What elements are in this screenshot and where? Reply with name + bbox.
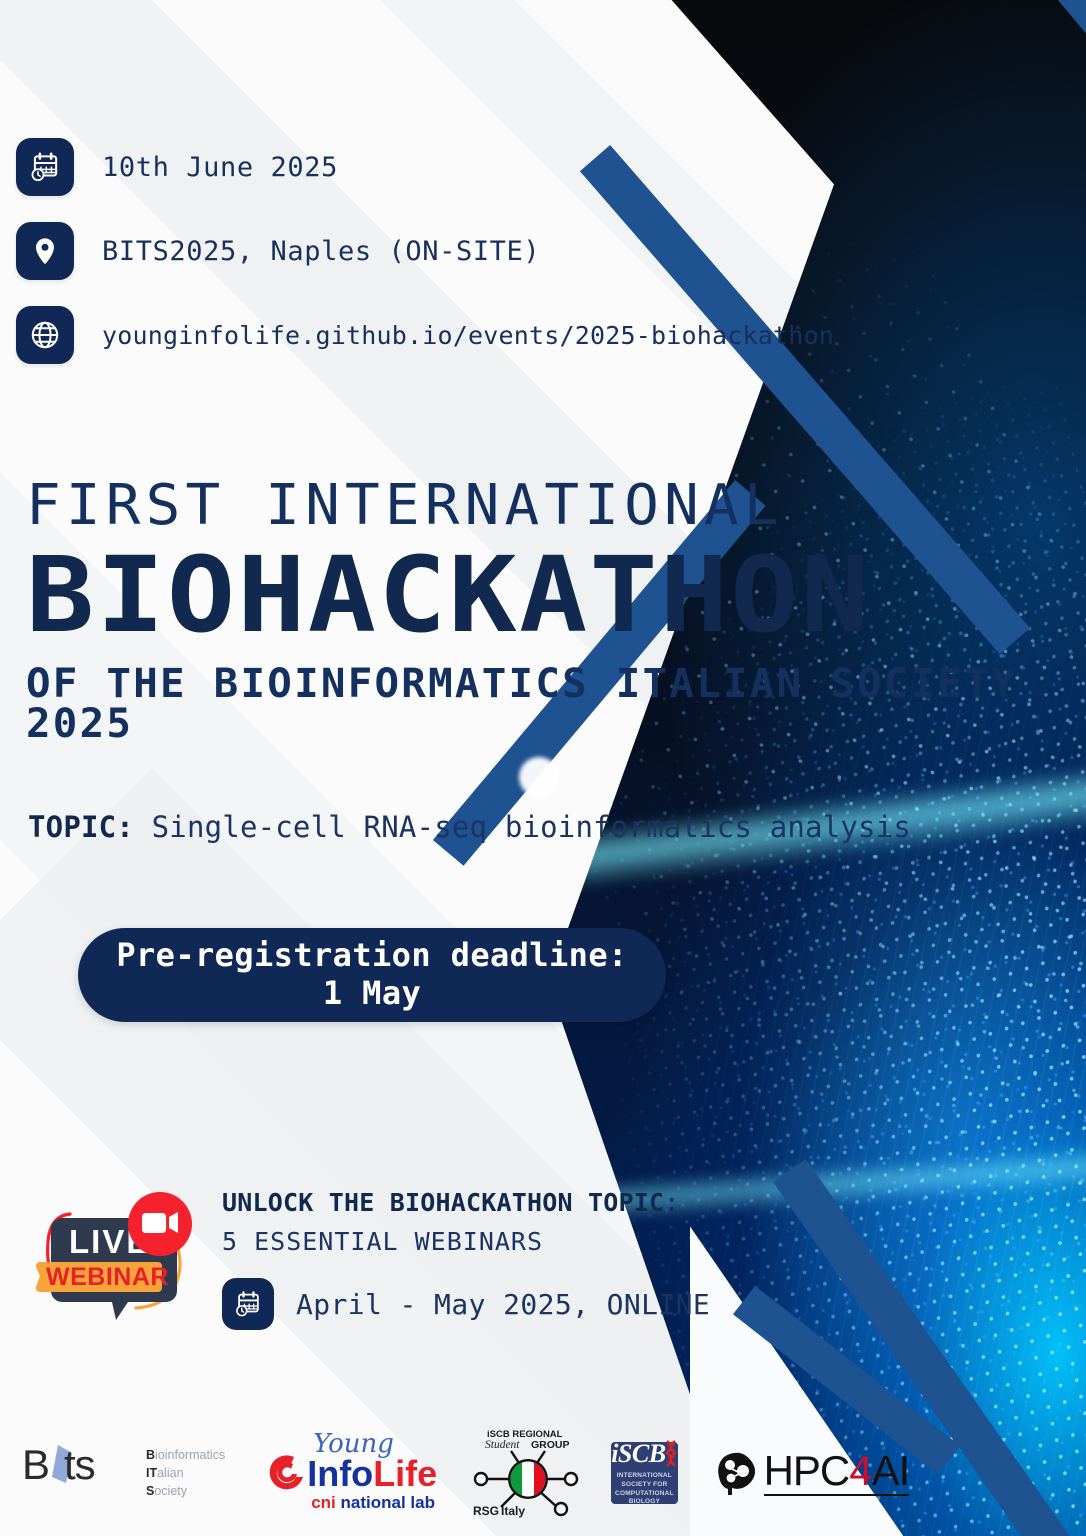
bits-sub-line: ITalian (146, 1464, 225, 1482)
calendar-clock-icon (16, 138, 74, 196)
hpc4ai-head-icon (712, 1447, 764, 1499)
webinar-heading-colon: : (664, 1188, 679, 1217)
svg-text:Italy: Italy (501, 1504, 525, 1518)
iscb-subtitle-line-2: COMPUTATIONAL BIOLOGY (611, 1490, 677, 1508)
live-webinar-badge: LIVE WEBINAR (24, 1180, 206, 1320)
iscb-regional-student-group-logo: iSCB REGIONAL Student GROUP (471, 1427, 581, 1519)
young-infolife-info: Info (307, 1453, 373, 1494)
deadline-label: Pre-registration deadline: (116, 937, 627, 975)
webinar-section: LIVE WEBINAR UNLOCK THE BIOHACKATHON TOP… (24, 1180, 784, 1330)
webinar-date-row: April - May 2025, ONLINE (222, 1278, 710, 1330)
poster-headline: FIRST INTERNATIONAL BIOHACKATHON OF THE … (26, 478, 1026, 744)
bits-logo-mark: B ts (22, 1439, 134, 1508)
event-info-list: 10th June 2025 BITS2025, Naples (ON-SITE… (16, 138, 776, 390)
young-infolife-wordmark: InfoLife (307, 1457, 437, 1491)
infolife-swirl-icon (263, 1447, 309, 1499)
location-pin-icon (16, 222, 74, 280)
hpc-four: 4 (849, 1447, 871, 1494)
iscb-logo: iSCB INTERNATIONAL SOCIETY FOR COMPUTATI… (611, 1442, 677, 1504)
info-row-website[interactable]: younginfolife.github.io/events/2025-bioh… (16, 306, 776, 364)
svg-text:ts: ts (64, 1441, 95, 1488)
calendar-clock-icon (222, 1278, 274, 1330)
webinar-date-text: April - May 2025, ONLINE (296, 1288, 710, 1321)
bits-logo-subtitle: Bioinformatics ITalian Society (146, 1446, 225, 1500)
svg-text:B: B (22, 1441, 49, 1488)
svg-text:Student: Student (485, 1439, 520, 1451)
webinar-subheading: 5 ESSENTIAL WEBINARS (222, 1227, 710, 1256)
young-infolife-life: Life (373, 1453, 437, 1494)
topic-value: Single-cell RNA-seq bioinformatics analy… (152, 810, 911, 844)
decorative-circle (519, 757, 559, 797)
pre-registration-deadline-badge: Pre-registration deadline: 1 May (78, 928, 666, 1022)
svg-text:WEBINAR: WEBINAR (46, 1263, 169, 1291)
webinar-heading-strong: UNLOCK THE BIOHACKATHON TOPIC (222, 1188, 664, 1217)
webinar-text-block: UNLOCK THE BIOHACKATHON TOPIC: 5 ESSENTI… (222, 1180, 710, 1330)
bits-logo: B ts Bioinformatics ITalian Society (22, 1439, 225, 1508)
iscb-subtitle: INTERNATIONAL SOCIETY FOR COMPUTATIONAL … (611, 1472, 677, 1507)
headline-line-3: OF THE BIOINFORMATICS ITALIAN SOCIETY 20… (26, 664, 1046, 744)
sponsor-logo-bar: B ts Bioinformatics ITalian Society Youn… (0, 1418, 900, 1528)
info-row-website-text: younginfolife.github.io/events/2025-bioh… (102, 321, 834, 350)
topic-line: TOPIC: Single-cell RNA-seq bioinformatic… (28, 810, 911, 844)
globe-icon (16, 306, 74, 364)
topic-label: TOPIC: (28, 810, 134, 844)
headline-line-2: BIOHACKATHON (26, 540, 1086, 650)
info-row-date-text: 10th June 2025 (102, 152, 338, 183)
bits-sub-line: Bioinformatics (146, 1446, 225, 1464)
webinar-heading: UNLOCK THE BIOHACKATHON TOPIC: (222, 1188, 710, 1217)
cni-label: cni (311, 1493, 336, 1512)
poster-canvas: 10th June 2025 BITS2025, Naples (ON-SITE… (0, 0, 1086, 1536)
svg-text:RSG: RSG (473, 1504, 499, 1518)
young-infolife-cni-line: cni national lab (311, 1493, 437, 1513)
young-infolife-logo: Young InfoLife cni national lab (263, 1433, 437, 1513)
iscb-subtitle-line-1: INTERNATIONAL SOCIETY FOR (611, 1472, 677, 1490)
deadline-date: 1 May (323, 975, 421, 1013)
hpc4ai-logo: HPC4AI (712, 1447, 910, 1499)
svg-text:GROUP: GROUP (531, 1439, 570, 1451)
national-lab-label: national lab (341, 1493, 435, 1512)
info-row-location-text: BITS2025, Naples (ON-SITE) (102, 236, 540, 267)
dna-helix-icon (664, 1439, 678, 1469)
headline-line-1: FIRST INTERNATIONAL (26, 478, 1056, 534)
hpc-part-2: AI (872, 1447, 910, 1494)
hpc-part-1: HPC (764, 1447, 850, 1494)
iscb-wordmark: iSCB (611, 1441, 665, 1467)
bits-sub-line: Society (146, 1482, 225, 1500)
hpc4ai-wordmark: HPC4AI (764, 1450, 910, 1496)
info-row-date: 10th June 2025 (16, 138, 776, 196)
info-row-location: BITS2025, Naples (ON-SITE) (16, 222, 776, 280)
